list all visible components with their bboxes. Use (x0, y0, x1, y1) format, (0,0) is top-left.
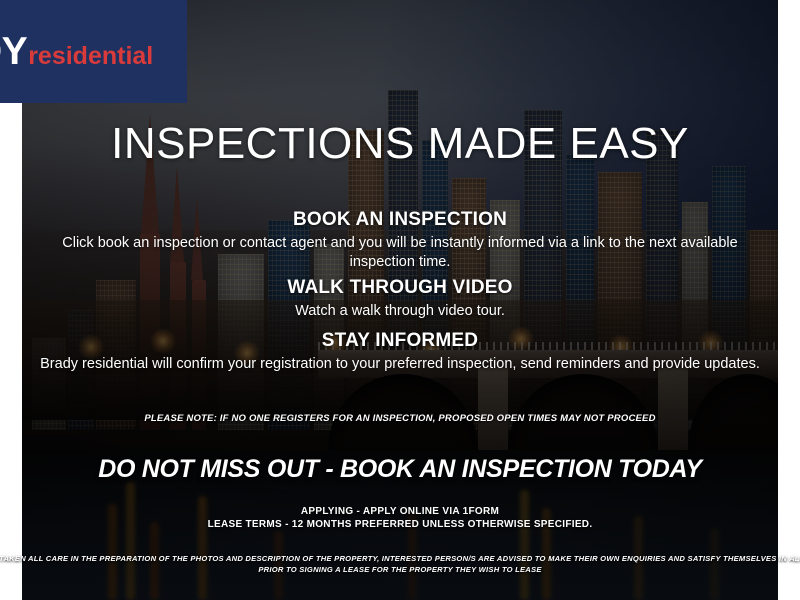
logo-wordmark: DY residential (0, 30, 153, 74)
section-body: Click book an inspection or contact agen… (40, 234, 760, 272)
lease-terms-line: LEASE TERMS - 12 MONTHS PREFERRED UNLESS… (0, 518, 800, 531)
inspection-poster: DY residential INSPECTIONS MADE EASY BOO… (0, 0, 800, 600)
section-stay-informed: STAY INFORMED Brady residential will con… (40, 330, 760, 374)
section-body: Brady residential will confirm your regi… (40, 355, 760, 374)
section-walk-through-video: WALK THROUGH VIDEO Watch a walk through … (40, 277, 760, 321)
applying-line: APPLYING - APPLY ONLINE VIA 1FORM (0, 505, 800, 518)
section-book-an-inspection: BOOK AN INSPECTION Click book an inspect… (40, 209, 760, 272)
legal-disclaimer: TY LTD HAS TAKEN ALL CARE IN THE PREPARA… (0, 553, 800, 575)
terms-block: APPLYING - APPLY ONLINE VIA 1FORM LEASE … (0, 505, 800, 531)
call-to-action-headline: DO NOT MISS OUT - BOOK AN INSPECTION TOD… (0, 455, 800, 484)
logo-brand-text: DY (0, 30, 27, 74)
section-heading: STAY INFORMED (40, 330, 760, 352)
logo-sub-text: residential (28, 42, 153, 71)
please-note-text: PLEASE NOTE: IF NO ONE REGISTERS FOR AN … (0, 413, 800, 424)
brady-residential-logo[interactable]: DY residential (0, 0, 187, 103)
section-body: Watch a walk through video tour. (40, 302, 760, 321)
section-heading: WALK THROUGH VIDEO (40, 277, 760, 299)
section-heading: BOOK AN INSPECTION (40, 209, 760, 231)
page-title: INSPECTIONS MADE EASY (0, 119, 800, 169)
